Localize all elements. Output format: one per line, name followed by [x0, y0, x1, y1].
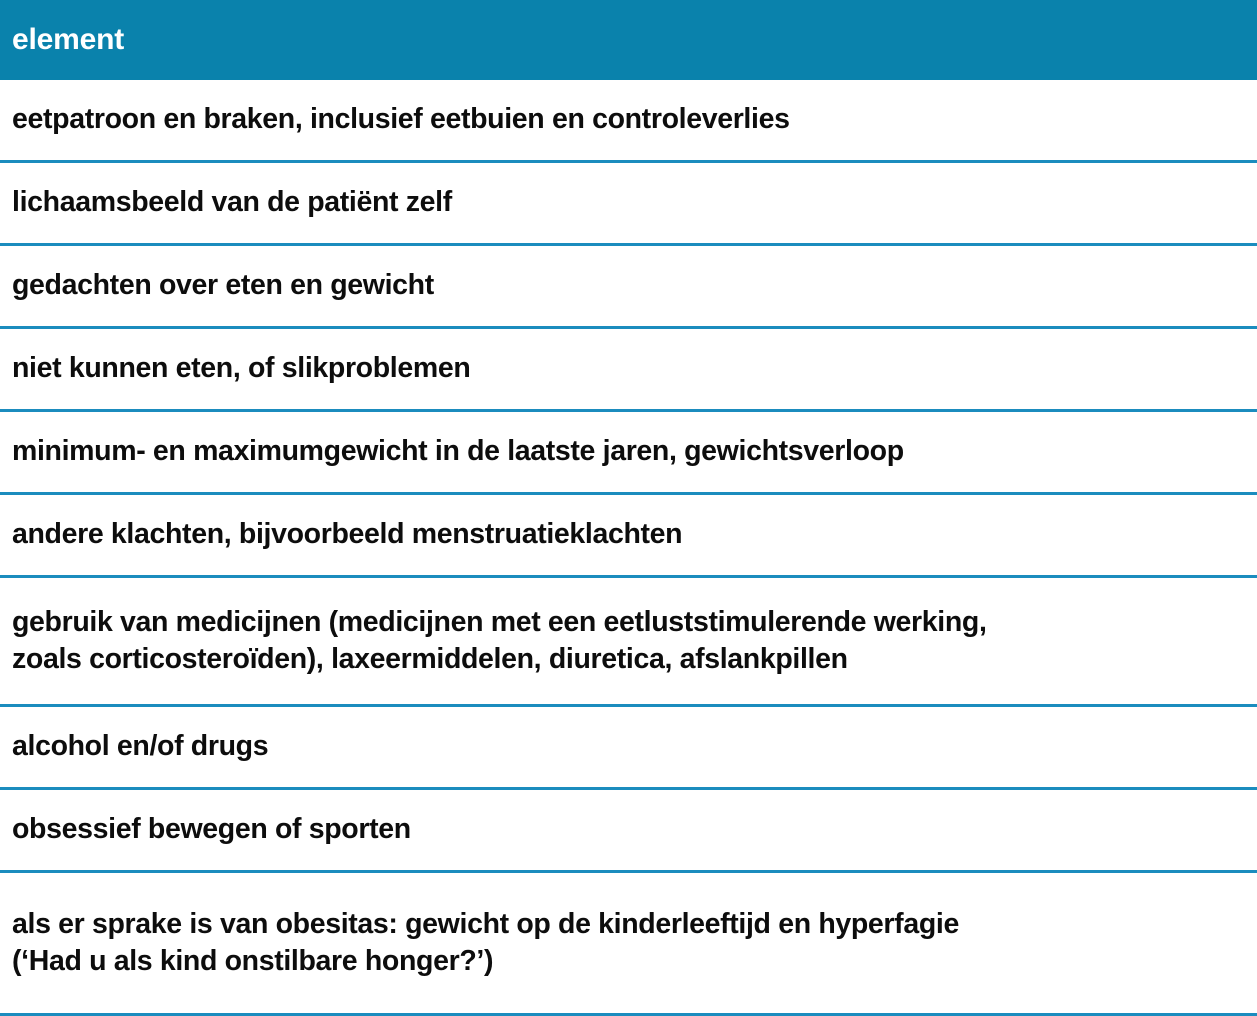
- table-row: eetpatroon en braken, inclusief eetbuien…: [0, 80, 1257, 160]
- table-row: gebruik van medicijnen (medicijnen met e…: [0, 578, 1257, 704]
- table-row: minimum- en maximumgewicht in de laatste…: [0, 412, 1257, 492]
- table-cell-text: eetpatroon en braken, inclusief eetbuien…: [12, 101, 790, 138]
- table-cell-text: alcohol en/of drugs: [12, 728, 268, 765]
- table-cell-text: niet kunnen eten, of slikproblemen: [12, 350, 470, 387]
- table-row: lichaamsbeeld van de patiënt zelf: [0, 163, 1257, 243]
- table-row: gedachten over eten en gewicht: [0, 246, 1257, 326]
- table-row: niet kunnen eten, of slikproblemen: [0, 329, 1257, 409]
- table-cell-text: minimum- en maximumgewicht in de laatste…: [12, 433, 904, 470]
- table-row: alcohol en/of drugs: [0, 707, 1257, 787]
- column-header-element: element: [12, 25, 124, 55]
- table-row: als er sprake is van obesitas: gewicht o…: [0, 873, 1257, 1013]
- table-body: eetpatroon en braken, inclusief eetbuien…: [0, 80, 1257, 1016]
- table-row: andere klachten, bijvoorbeeld menstruati…: [0, 495, 1257, 575]
- table-cell-text: obsessief bewegen of sporten: [12, 811, 411, 848]
- table-header-row: element: [0, 0, 1257, 80]
- table-cell-text: gebruik van medicijnen (medicijnen met e…: [12, 604, 987, 678]
- element-table: element eetpatroon en braken, inclusief …: [0, 0, 1257, 992]
- table-row: obsessief bewegen of sporten: [0, 790, 1257, 870]
- table-cell-text: andere klachten, bijvoorbeeld menstruati…: [12, 516, 682, 553]
- table-cell-text: gedachten over eten en gewicht: [12, 267, 434, 304]
- table-cell-text: als er sprake is van obesitas: gewicht o…: [12, 906, 959, 980]
- table-cell-text: lichaamsbeeld van de patiënt zelf: [12, 184, 452, 221]
